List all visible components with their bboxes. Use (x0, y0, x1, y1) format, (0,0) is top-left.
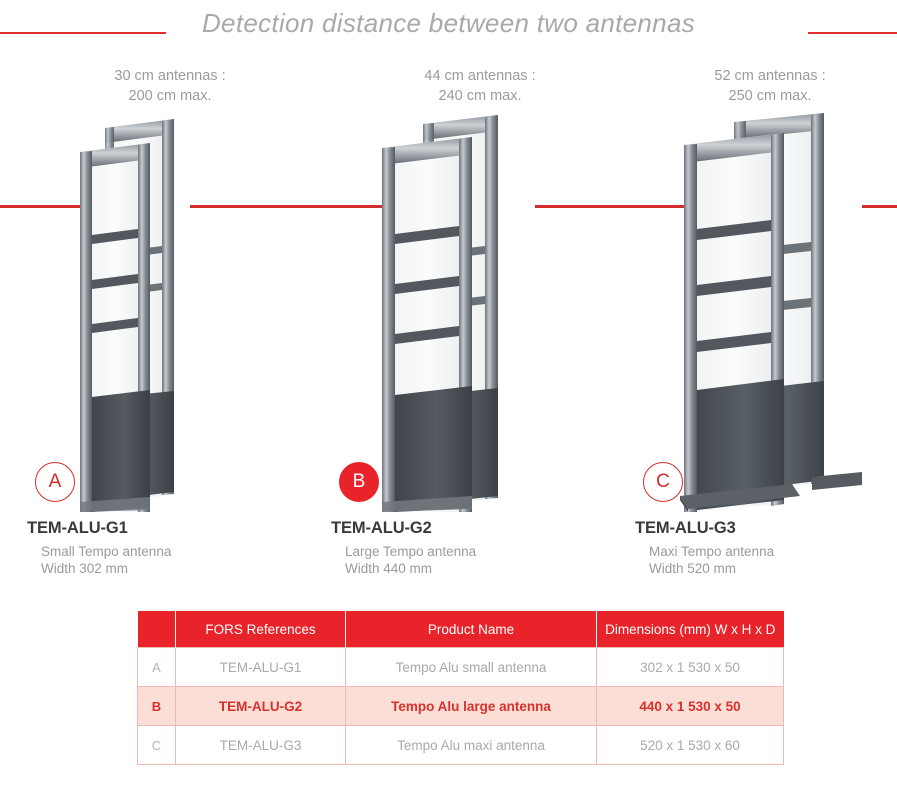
caption-b-line1: 44 cm antennas : (424, 68, 535, 84)
product-c-desc: Maxi Tempo antenna (649, 543, 774, 560)
page-title: Detection distance between two antennas (0, 8, 897, 39)
table-row[interactable]: A TEM-ALU-G1 Tempo Alu small antenna 302… (138, 648, 784, 687)
product-b-width: Width 440 mm (345, 560, 476, 577)
row-c-dimensions: 520 x 1 530 x 60 (597, 726, 784, 765)
product-badge-b-letter: B (353, 471, 366, 493)
product-a-desc: Small Tempo antenna (41, 543, 171, 560)
antenna-gate-b-illustration (368, 112, 588, 512)
table-row[interactable]: C TEM-ALU-G3 Tempo Alu maxi antenna 520 … (138, 726, 784, 765)
product-a-width: Width 302 mm (41, 560, 171, 577)
product-badge-c: C (643, 462, 683, 502)
row-a-name: Tempo Alu small antenna (346, 648, 597, 687)
antenna-gate-c-illustration (672, 112, 897, 512)
row-b-name: Tempo Alu large antenna (346, 687, 597, 726)
table-header-index (138, 611, 176, 648)
product-b-desc: Large Tempo antenna (345, 543, 476, 560)
row-c-index: C (138, 726, 176, 765)
caption-c-line2: 250 cm max. (640, 86, 897, 106)
row-b-reference: TEM-ALU-G2 (176, 687, 346, 726)
product-a-code: TEM-ALU-G1 (27, 519, 171, 538)
table-header-product-name: Product Name (346, 611, 597, 648)
caption-b-line2: 240 cm max. (350, 86, 610, 106)
caption-a-line1: 30 cm antennas : (114, 68, 225, 84)
product-label-a: TEM-ALU-G1 Small Tempo antenna Width 302… (27, 519, 171, 577)
antenna-caption-c: 52 cm antennas : 250 cm max. (640, 66, 897, 106)
caption-a-line2: 200 cm max. (40, 86, 300, 106)
page-header: Detection distance between two antennas (0, 8, 897, 54)
product-badge-b: B (339, 462, 379, 502)
row-a-dimensions: 302 x 1 530 x 50 (597, 648, 784, 687)
product-b-code: TEM-ALU-G2 (331, 519, 476, 538)
table-row[interactable]: B TEM-ALU-G2 Tempo Alu large antenna 440… (138, 687, 784, 726)
caption-c-line1: 52 cm antennas : (714, 68, 825, 84)
antenna-gate-a-illustration (62, 112, 262, 512)
row-c-reference: TEM-ALU-G3 (176, 726, 346, 765)
product-c-width: Width 520 mm (649, 560, 774, 577)
row-c-name: Tempo Alu maxi antenna (346, 726, 597, 765)
product-badge-a: A (35, 462, 75, 502)
product-badge-c-letter: C (656, 471, 670, 493)
row-b-dimensions: 440 x 1 530 x 50 (597, 687, 784, 726)
product-c-code: TEM-ALU-G3 (635, 519, 774, 538)
table-header-dimensions: Dimensions (mm) W x H x D (597, 611, 784, 648)
antenna-caption-b: 44 cm antennas : 240 cm max. (350, 66, 610, 106)
product-label-b: TEM-ALU-G2 Large Tempo antenna Width 440… (331, 519, 476, 577)
row-a-index: A (138, 648, 176, 687)
table-header-row: FORS References Product Name Dimensions … (138, 611, 784, 648)
antenna-caption-a: 30 cm antennas : 200 cm max. (40, 66, 300, 106)
table-header-references: FORS References (176, 611, 346, 648)
row-b-index: B (138, 687, 176, 726)
product-badge-a-letter: A (49, 471, 62, 493)
product-label-c: TEM-ALU-G3 Maxi Tempo antenna Width 520 … (635, 519, 774, 577)
row-a-reference: TEM-ALU-G1 (176, 648, 346, 687)
product-specification-table: FORS References Product Name Dimensions … (137, 611, 784, 765)
